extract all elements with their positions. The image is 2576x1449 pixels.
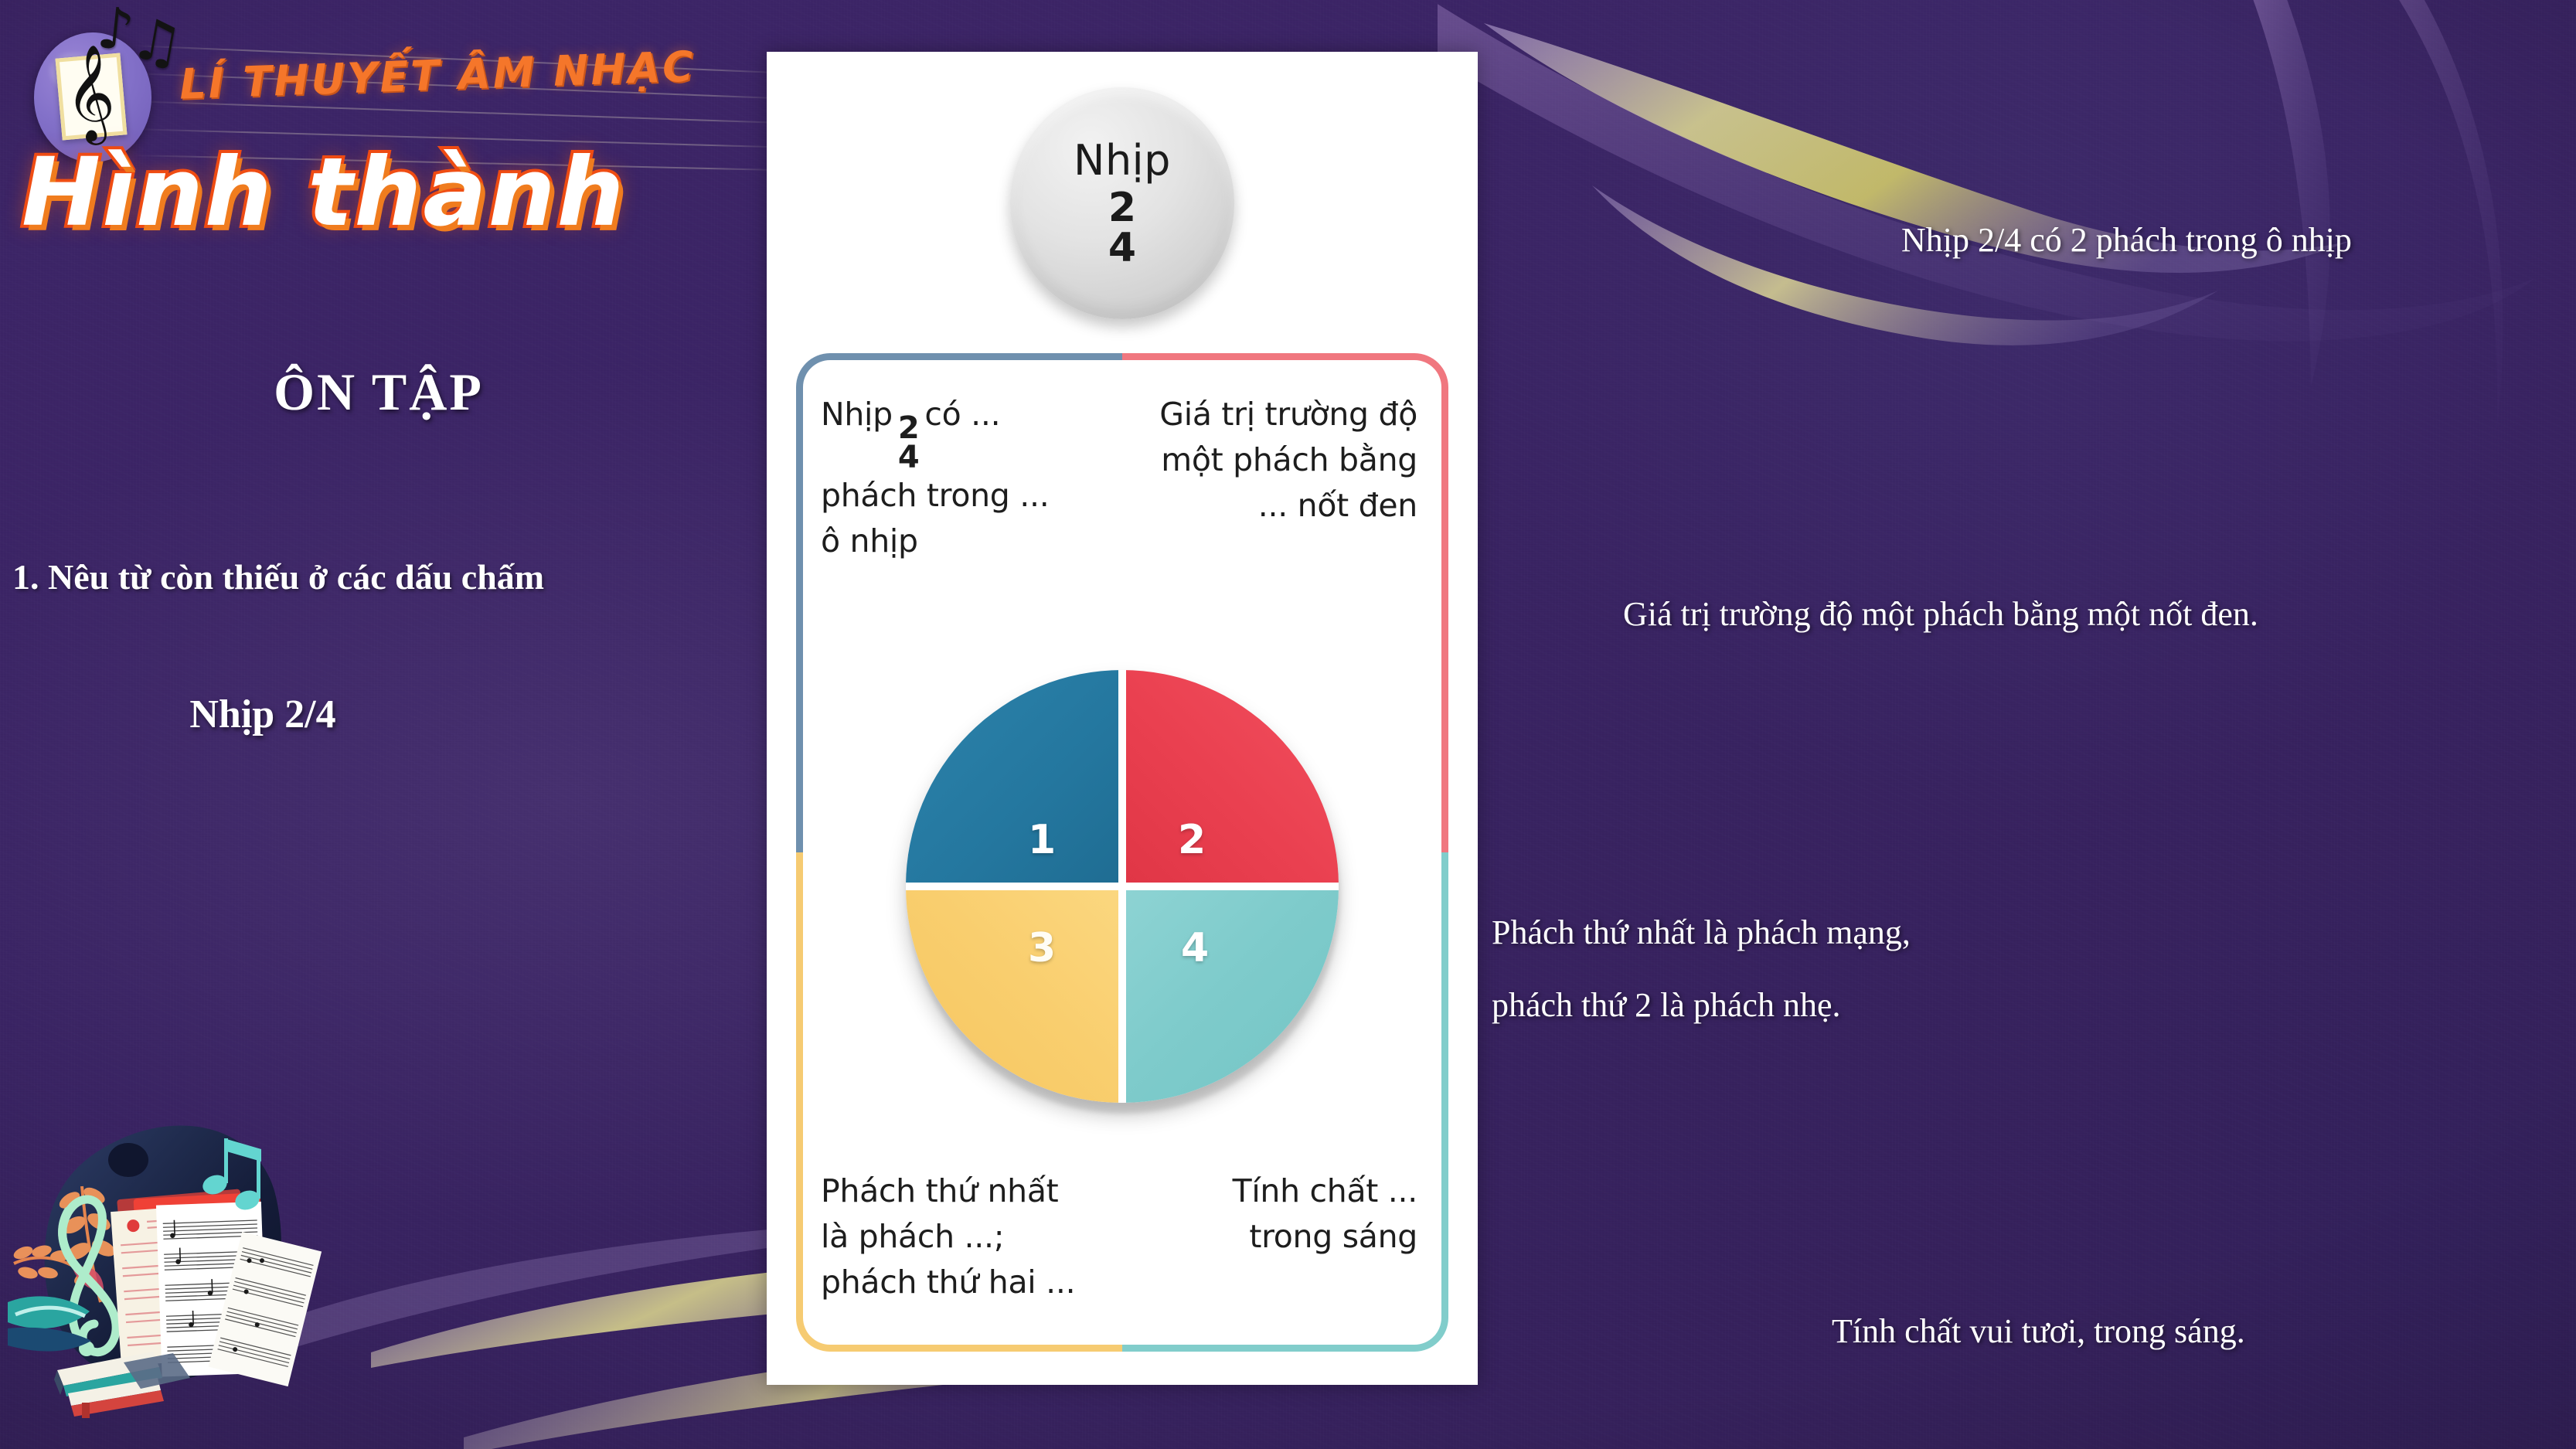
tr-line2: một phách bằng [1161,441,1417,478]
tl-suffix: có ... [924,396,1000,433]
answer-2: Giá trị trường độ một phách bằng một nốt… [1623,589,2258,640]
tr-line3: ... nốt đen [1258,487,1417,524]
pie-slice-4 [1122,886,1339,1103]
beamed-notes-icon: ♫ [128,15,186,70]
badge-denominator: 4 [1108,228,1136,268]
tl-line3: ô nhịp [821,522,918,560]
section-title: Hình thành [22,145,625,240]
pie-slice-3 [906,886,1122,1103]
pie-label-3: 3 [1028,925,1056,971]
tr-line1: Giá trị trường độ [1159,396,1417,433]
answer-3: Phách thứ nhất là phách mạng, [1492,907,1911,958]
pie-label-1: 1 [1028,817,1056,863]
pie-slice-1 [906,670,1122,886]
pie-slice-2 [1122,670,1339,886]
beat-pie-chart: 1 2 3 4 [906,670,1339,1103]
pie-body [906,670,1339,1103]
time-signature-badge: Nhịp 2 4 [1010,87,1234,319]
badge-label: Nhịp [1074,138,1171,183]
quadrant-text-top-left: Nhịp24có ... phách trong ... ô nhịp [821,392,1122,564]
br-line1: Tính chất ... [1233,1172,1417,1209]
answer-5: Tính chất vui tươi, trong sáng. [1832,1306,2245,1357]
br-line2: trong sáng [1249,1218,1417,1255]
tl-numerator: 2 [898,413,920,443]
tl-denominator: 4 [898,443,920,472]
quadrant-text-bottom-left: Phách thứ nhất là phách ...; phách thứ h… [821,1168,1130,1305]
topic-label: Nhịp 2/4 [0,692,526,737]
quadrant-text-top-right: Giá trị trường độ một phách bằng ... nốt… [1122,392,1431,529]
bl-line3: phách thứ hai ... [821,1264,1075,1301]
slide-header: 𝄞 ♪ ♫ LÍ THUYẾT ÂM NHẠC Hình thành [0,0,788,325]
answer-4: phách thứ 2 là phách nhẹ. [1492,980,1840,1031]
badge-numerator: 2 [1108,188,1136,228]
tl-line2: phách trong ... [821,477,1049,514]
treble-clef-icon: 𝄞 [63,53,117,134]
question-text: 1. Nêu từ còn thiếu ở các dấu chấm [12,556,742,597]
tl-prefix: Nhịp [821,396,893,433]
left-column: ÔN TẬP 1. Nêu từ còn thiếu ở các dấu chấ… [0,332,757,827]
tl-fraction: 24 [898,413,920,473]
diagram-card: Nhịp 2 4 Nhịp24có ... phách trong ... ô … [767,52,1478,1385]
answer-1: Nhịp 2/4 có 2 phách trong ô nhịp [1901,215,2352,266]
bl-line2: là phách ...; [821,1218,1004,1255]
right-answers-column: Nhịp 2/4 có 2 phách trong ô nhịp Giá trị… [1492,0,2576,1449]
bl-line1: Phách thứ nhất [821,1172,1058,1209]
page-heading: ÔN TẬP [0,362,757,423]
quadrant-text-bottom-right: Tính chất ... trong sáng [1130,1168,1431,1260]
pie-label-2: 2 [1178,817,1206,863]
pie-label-4: 4 [1181,925,1209,971]
music-illustration [8,1070,379,1434]
